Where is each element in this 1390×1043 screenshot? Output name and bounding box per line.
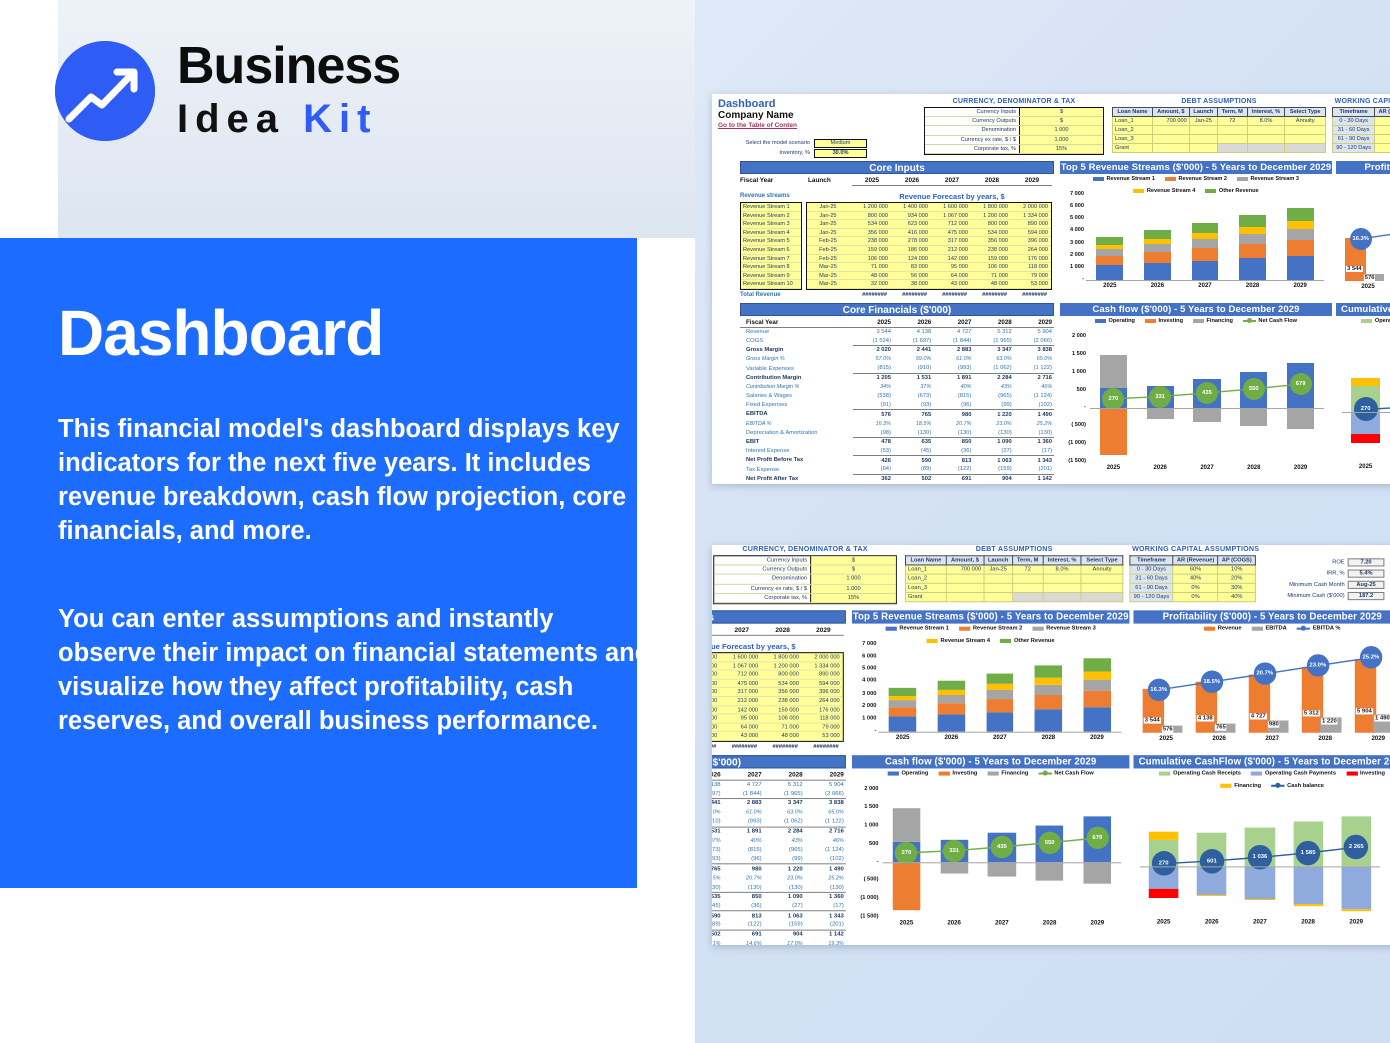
legend-label: Other Revenue [1219, 188, 1259, 194]
chart-legend: RevenueEBITDAEBITDA % [1336, 174, 1390, 182]
debt-cell[interactable] [1218, 126, 1248, 135]
debt-cell[interactable] [1043, 574, 1082, 583]
currency-row-value[interactable]: 1.000 [810, 584, 896, 592]
forecast-cell[interactable]: 1 067 000 [720, 662, 761, 670]
forecast-cell[interactable]: 317 000 [720, 688, 761, 696]
revenue-stream-name[interactable]: Revenue Stream 4 [741, 229, 801, 238]
forecast-cell[interactable]: 264 000 [802, 697, 843, 705]
legend-label: Revenue Stream 3 [1046, 626, 1095, 632]
legend-item: Revenue [1204, 626, 1242, 632]
debt-cell[interactable]: 8.0% [1043, 565, 1082, 574]
debt-cell[interactable] [1043, 583, 1082, 592]
forecast-cell[interactable]: 800 000 [851, 212, 891, 220]
core-financials-value: 1 490 [805, 864, 846, 873]
forecast-cell[interactable]: 176 000 [1011, 255, 1051, 263]
legend-item: Investing [1145, 318, 1183, 324]
debt-cell[interactable] [1189, 126, 1217, 135]
wc-ar-cell[interactable]: 60% [1173, 565, 1218, 574]
forecast-cell[interactable]: 1 200 000 [761, 662, 802, 670]
debt-cell[interactable] [1285, 135, 1326, 144]
forecast-cell[interactable]: 416 000 [712, 679, 720, 687]
launch-cell[interactable]: Jan-25 [807, 229, 851, 237]
revenue-stream-name[interactable]: Revenue Stream 7 [741, 255, 801, 264]
y-axis-tick: 1 000 [1062, 264, 1084, 270]
debt-cell[interactable]: Jan-25 [984, 565, 1013, 574]
forecast-cell[interactable]: 396 000 [802, 688, 843, 696]
forecast-cell[interactable]: 278 000 [891, 237, 931, 245]
revenue-data-label: 4 727 [1250, 713, 1267, 719]
kpi-value: 187.2 [1348, 592, 1385, 600]
forecast-cell[interactable]: 1 600 000 [720, 653, 761, 661]
debt-cell[interactable] [984, 583, 1013, 592]
forecast-cell[interactable]: 38 000 [712, 732, 720, 740]
axis-zero-line [1090, 408, 1324, 409]
core-financials-value: 1 220 [973, 410, 1013, 419]
debt-cell[interactable]: Loan_3 [1113, 135, 1153, 144]
wc-ap-cell[interactable]: 40% [1218, 592, 1255, 601]
launch-cell[interactable]: Mar-25 [807, 272, 851, 280]
revenue-forecast-grid[interactable]: Jan-251 200 0001 400 0001 600 0001 800 0… [712, 652, 844, 742]
y-axis-tick: 5 000 [1062, 215, 1084, 221]
debt-cell[interactable] [1152, 144, 1189, 153]
currency-row: Corporate tax, %15% [714, 594, 896, 603]
launch-cell[interactable]: Feb-25 [807, 246, 851, 254]
core-financials-value: 3 838 [1014, 346, 1054, 355]
y-axis-tick: - [1376, 862, 1390, 868]
forecast-cell[interactable]: 238 000 [761, 697, 802, 705]
wc-timeframe: 61 - 90 Days [1333, 135, 1375, 144]
core-financials-value: (36) [933, 447, 973, 456]
forecast-cell[interactable]: 264 000 [1011, 246, 1051, 254]
debt-cell[interactable] [1152, 135, 1189, 144]
debt-cell[interactable] [1081, 592, 1122, 601]
debt-cell[interactable] [1247, 135, 1285, 144]
forecast-cell[interactable]: 534 000 [851, 220, 891, 228]
chart-profitability[interactable]: Profitability ($'000) - 5 Years to Decem… [1133, 610, 1390, 748]
currency-row-label: Corporate tax, % [714, 594, 810, 602]
forecast-cell[interactable]: 64 000 [720, 723, 761, 731]
debt-cell[interactable]: Loan_2 [1113, 126, 1153, 135]
forecast-cell[interactable]: 83 000 [891, 263, 931, 271]
core-financials-table[interactable]: Fiscal Year20252026202720282029Revenue3 … [740, 318, 1054, 484]
legend-label: Operating [901, 770, 928, 776]
revenue-forecast-row: Jan-25800 000934 0001 067 0001 200 0001 … [712, 662, 843, 671]
debt-cell[interactable] [1218, 135, 1248, 144]
chart-cash-flow[interactable]: Cash flow ($'000) - 5 Years to December … [1060, 303, 1332, 478]
debt-cell[interactable]: Loan_3 [906, 583, 947, 592]
forecast-cell[interactable]: 238 000 [971, 246, 1011, 254]
x-axis-label: 2029 [1073, 735, 1122, 741]
x-axis-label: 2025 [1140, 736, 1193, 742]
forecast-cell[interactable]: 48 000 [971, 280, 1011, 288]
currency-row-value[interactable]: $ [1019, 108, 1103, 116]
core-financials-value: 2 441 [712, 799, 723, 808]
cash-balance-bubble: 601 [1200, 849, 1224, 873]
debt-cell[interactable] [1013, 574, 1043, 583]
forecast-cell[interactable]: 2 000 000 [1011, 203, 1051, 211]
debt-cell[interactable]: Loan_2 [906, 574, 947, 583]
legend-label: EBITDA % [1313, 626, 1341, 632]
working-capital-table[interactable]: TimeframeAR (Revenue)AP (COGS)0 - 30 Day… [1129, 555, 1255, 602]
core-financials-value: (910) [712, 817, 723, 826]
core-financials-value: (673) [712, 845, 723, 854]
revenue-stream-name[interactable]: Revenue Stream 5 [741, 237, 801, 246]
debt-cell[interactable] [1247, 144, 1285, 153]
revenue-stream-name[interactable]: Revenue Stream 9 [741, 272, 801, 281]
legend-label: Revenue Stream 3 [1251, 176, 1300, 182]
debt-cell[interactable]: 700 000 [1152, 117, 1189, 126]
currency-table[interactable]: Currency Inputs$Currency Outputs$Denomin… [924, 107, 1104, 155]
debt-cell[interactable]: 72 [1013, 565, 1043, 574]
currency-table[interactable]: Currency Inputs$Currency Outputs$Denomin… [713, 555, 897, 604]
debt-cell[interactable] [1189, 144, 1217, 153]
debt-cell[interactable] [1285, 144, 1326, 153]
core-financials-value: (99) [973, 401, 1013, 410]
debt-cell[interactable]: Grant [1113, 144, 1153, 153]
y-axis-tick: - [854, 728, 876, 734]
legend-item: Other Revenue [1000, 638, 1054, 644]
forecast-cell[interactable]: 71 000 [971, 272, 1011, 280]
forecast-cell[interactable]: 106 000 [971, 263, 1011, 271]
forecast-cell[interactable]: 118 000 [1011, 263, 1051, 271]
forecast-cell[interactable]: 1 334 000 [1011, 212, 1051, 220]
debt-cell[interactable] [1285, 126, 1326, 135]
scenario-select[interactable]: Medium [814, 139, 867, 148]
forecast-cell[interactable]: 64 000 [931, 272, 971, 280]
debt-cell[interactable]: Annuity [1285, 117, 1326, 126]
legend-item: Revenue Stream 2 [1165, 176, 1227, 182]
debt-cell[interactable] [1013, 592, 1043, 601]
core-financials-value: (27) [973, 447, 1013, 456]
forecast-cell[interactable]: 594 000 [1011, 229, 1051, 237]
debt-cell[interactable]: 700 000 [946, 565, 984, 574]
forecast-cell[interactable]: 534 000 [971, 229, 1011, 237]
legend-swatch [1271, 785, 1284, 787]
forecast-cell[interactable]: 475 000 [931, 229, 971, 237]
forecast-cell[interactable]: 118 000 [802, 715, 843, 723]
wc-ar-cell[interactable]: 0% [1375, 144, 1390, 153]
forecast-cell[interactable]: 356 000 [761, 688, 802, 696]
core-financials-value: (993) [723, 817, 764, 826]
forecast-cell[interactable]: 159 000 [851, 246, 891, 254]
debt-cell[interactable] [1043, 592, 1082, 601]
revenue-stream-name[interactable]: Revenue Stream 3 [741, 220, 801, 229]
stacked-bar-segment [1035, 695, 1062, 710]
launch-cell[interactable]: Jan-25 [807, 220, 851, 228]
stacked-bar-segment [1192, 233, 1219, 239]
debt-cell[interactable] [1218, 144, 1248, 153]
wc-ar-cell[interactable]: 0% [1173, 583, 1218, 592]
debt-cell[interactable] [984, 592, 1013, 601]
year-header: 2029 [805, 770, 846, 779]
core-financials-row: Net Profit Before Tax4265908131 0631 343 [712, 911, 846, 920]
forecast-cell[interactable]: 800 000 [971, 220, 1011, 228]
revenue-forecast-row: Mar-2532 00038 00043 00048 00053 000 [807, 280, 1051, 289]
forecast-cell[interactable]: 534 000 [761, 679, 802, 687]
launch-cell[interactable]: Jan-25 [807, 212, 851, 220]
x-axis-label: 2027 [1236, 919, 1284, 925]
forecast-cell[interactable]: 95 000 [931, 263, 971, 271]
debt-cell[interactable]: Jan-25 [1189, 117, 1217, 126]
x-axis-label: 2026 [1188, 919, 1236, 925]
chart-cash-flow[interactable]: Cash flow ($'000) - 5 Years to December … [852, 755, 1129, 934]
revenue-stream-name[interactable]: Revenue Stream 10 [741, 280, 801, 289]
legend-label: Revenue [1218, 626, 1242, 632]
forecast-cell[interactable]: 800 000 [761, 671, 802, 679]
forecast-cell[interactable]: 53 000 [802, 732, 843, 740]
chart-profitability[interactable]: Profitability ($'000) - 5 Years to Decem… [1336, 161, 1390, 296]
dashboard-screenshot-top[interactable]: DashboardCompany NameGo to the Table of … [712, 94, 1390, 484]
forecast-cell[interactable]: 48 000 [761, 732, 802, 740]
forecast-cell[interactable]: 356 000 [851, 229, 891, 237]
launch-cell[interactable]: Jan-25 [807, 203, 851, 211]
forecast-cell[interactable]: 186 000 [712, 697, 720, 705]
forecast-cell[interactable]: 186 000 [891, 246, 931, 254]
wc-ap-cell[interactable]: 20% [1218, 574, 1255, 583]
debt-cell[interactable]: 8.0% [1247, 117, 1285, 126]
cumulative-bar-segment [1293, 866, 1323, 904]
forecast-cell[interactable]: 106 000 [851, 255, 891, 263]
currency-row-value[interactable]: 15% [1019, 145, 1103, 153]
debt-cell[interactable] [1247, 126, 1285, 135]
revenue-stream-name[interactable]: Revenue Stream 8 [741, 263, 801, 272]
net-cash-flow-bubble: 331 [1149, 386, 1171, 408]
core-financials-value: 4 138 [712, 780, 723, 789]
wc-ar-cell[interactable]: 0% [1375, 135, 1390, 144]
forecast-cell[interactable]: 56 000 [891, 272, 931, 280]
core-financials-value: (130) [1014, 428, 1054, 437]
legend-label: Financing [1234, 783, 1261, 789]
forecast-cell[interactable]: 1 400 000 [891, 203, 931, 211]
debt-cell[interactable] [946, 583, 984, 592]
forecast-cell[interactable]: 1 200 000 [971, 212, 1011, 220]
forecast-cell[interactable]: 142 000 [720, 706, 761, 714]
forecast-cell[interactable]: 356 000 [971, 237, 1011, 245]
x-axis-label: 2028 [1284, 919, 1332, 925]
forecast-cell[interactable]: 2 000 000 [802, 653, 843, 661]
currency-row-value[interactable]: 1 000 [810, 575, 896, 583]
forecast-cell[interactable]: 83 000 [712, 715, 720, 723]
core-financials-table[interactable]: Fiscal Year20252026202720282029Revenue3 … [712, 770, 846, 945]
forecast-cell[interactable]: 1 400 000 [712, 653, 720, 661]
wc-ap-cell[interactable]: 30% [1218, 583, 1255, 592]
forecast-cell[interactable]: 934 000 [891, 212, 931, 220]
launch-cell[interactable]: Feb-25 [807, 237, 851, 245]
chart-title: Profitability ($'000) - 5 Years to Decem… [1336, 161, 1390, 174]
wc-ar-cell[interactable]: 0% [1173, 592, 1218, 601]
x-axis-label: 2029 [1352, 736, 1390, 742]
legend-swatch [1000, 639, 1011, 643]
revenue-stream-name[interactable]: Revenue Stream 6 [741, 246, 801, 255]
currency-row-value[interactable]: 1 000 [1019, 126, 1103, 134]
debt-cell[interactable] [946, 592, 984, 601]
debt-cell[interactable] [984, 574, 1013, 583]
debt-cell[interactable]: Loan_1 [1113, 117, 1153, 126]
forecast-cell[interactable]: 475 000 [720, 679, 761, 687]
forecast-cell[interactable]: 623 000 [891, 220, 931, 228]
forecast-cell[interactable]: 56 000 [712, 723, 720, 731]
chart-cumulative-cashflow[interactable]: Cumulative CashFlow ($'000) - 5 Years to… [1133, 755, 1390, 934]
currency-row-value[interactable]: $ [810, 566, 896, 574]
kpi-label: ROE [1264, 559, 1345, 565]
forecast-cell[interactable]: 712 000 [720, 671, 761, 679]
wc-col-header: AR (Revenue) [1375, 108, 1390, 117]
forecast-cell[interactable]: 159 000 [971, 255, 1011, 263]
legend-swatch [1093, 177, 1104, 181]
core-financials-value: (815) [933, 392, 973, 401]
forecast-cell[interactable]: 38 000 [891, 280, 931, 288]
wc-ar-cell[interactable]: 60% [1375, 117, 1390, 126]
forecast-cell[interactable]: 890 000 [802, 671, 843, 679]
core-financials-value: 5 312 [973, 327, 1013, 336]
launch-column-label: Launch [808, 177, 831, 184]
debt-assumptions-table[interactable]: Loan NameAmount, $LaunchTerm, MInterest,… [905, 555, 1123, 602]
forecast-cell[interactable]: 212 000 [931, 246, 971, 254]
forecast-cell[interactable]: 95 000 [720, 715, 761, 723]
forecast-cell[interactable]: 890 000 [1011, 220, 1051, 228]
forecast-cell[interactable]: 1 800 000 [971, 203, 1011, 211]
stacked-bar-segment [889, 700, 916, 707]
x-axis-label: 2027 [1184, 465, 1231, 471]
forecast-cell[interactable]: 53 000 [1011, 280, 1051, 288]
legend-label: EBITDA [1265, 626, 1286, 632]
forecast-cell[interactable]: 176 000 [802, 706, 843, 714]
forecast-cell[interactable]: 1 334 000 [802, 662, 843, 670]
forecast-cell[interactable]: 1 200 000 [851, 203, 891, 211]
revenue-forecast-row: Mar-2532 00038 00043 00048 00053 000 [712, 732, 843, 741]
stacked-bar-segment [1083, 659, 1110, 672]
debt-col-header: Term, M [1013, 556, 1043, 565]
core-financials-value: 61.0% [723, 808, 764, 817]
wc-ar-cell[interactable]: 40% [1375, 126, 1390, 135]
debt-cell[interactable] [1152, 126, 1189, 135]
debt-cell[interactable]: Annuity [1081, 565, 1122, 574]
wc-timeframe: 0 - 30 Days [1333, 117, 1375, 126]
x-axis-label: 2028 [1299, 736, 1352, 742]
debt-cell[interactable] [1013, 583, 1043, 592]
currency-row-value[interactable]: $ [1019, 117, 1103, 125]
y-axis-tick: 3 000 [1062, 240, 1084, 246]
launch-cell[interactable]: Mar-25 [807, 280, 851, 288]
core-financials-value: 1 891 [933, 373, 973, 382]
debt-cell[interactable] [946, 574, 984, 583]
debt-cell[interactable]: 72 [1218, 117, 1248, 126]
forecast-cell[interactable]: 142 000 [931, 255, 971, 263]
x-axis-label: 2026 [1134, 283, 1182, 289]
inventory-input[interactable]: 30.0% [814, 149, 867, 158]
forecast-cell[interactable]: 159 000 [761, 706, 802, 714]
forecast-cell[interactable]: 1 600 000 [931, 203, 971, 211]
wc-ap-cell[interactable]: 10% [1218, 565, 1255, 574]
forecast-cell[interactable]: 71 000 [851, 263, 891, 271]
debt-cell[interactable] [1189, 135, 1217, 144]
stacked-bar-segment [1096, 256, 1123, 266]
debt-cell[interactable]: Loan_1 [906, 565, 947, 574]
core-financials-label: Variable Expenses [740, 364, 853, 373]
forecast-cell[interactable]: 43 000 [720, 732, 761, 740]
table-of-contents-link[interactable]: Go to the Table of Conten [718, 122, 797, 129]
chart-top5-revenue-streams[interactable]: Top 5 Revenue Streams ($'000) - 5 Years … [852, 610, 1129, 748]
stacked-bar-segment [938, 680, 965, 689]
launch-cell[interactable]: Mar-25 [807, 263, 851, 271]
currency-row: Currency ex rate, $ / $1.000 [714, 584, 896, 593]
currency-row-label: Denomination [714, 575, 810, 583]
forecast-cell[interactable]: 594 000 [802, 679, 843, 687]
forecast-cell[interactable]: 79 000 [1011, 272, 1051, 280]
forecast-cell[interactable]: 934 000 [712, 662, 720, 670]
forecast-cell[interactable]: 278 000 [712, 688, 720, 696]
forecast-cell[interactable]: 1 067 000 [931, 212, 971, 220]
dashboard-screenshot-bottom[interactable]: DashboardCompany NameGo to the Table of … [712, 545, 1390, 945]
debt-cell[interactable] [1081, 583, 1122, 592]
core-financials-value: (98) [853, 428, 893, 437]
forecast-cell[interactable]: 712 000 [931, 220, 971, 228]
forecast-cell[interactable]: 124 000 [712, 706, 720, 714]
forecast-cell[interactable]: 317 000 [931, 237, 971, 245]
ebitda-data-label: 765 [1215, 724, 1227, 730]
chart-cumulative-cashflow[interactable]: Cumulative CashFlow ($'000) - 5 Years to… [1336, 303, 1390, 478]
wc-ar-cell[interactable]: 40% [1173, 574, 1218, 583]
revenue-forecast-grid[interactable]: Jan-251 200 0001 400 0001 600 0001 800 0… [806, 202, 1052, 290]
currency-row-value[interactable]: $ [810, 556, 896, 564]
core-financials-value: 59.0% [712, 808, 723, 817]
core-financials-label: Net Profit After Tax [740, 474, 853, 483]
debt-col-header: Interest, % [1043, 556, 1082, 565]
forecast-cell[interactable]: 238 000 [851, 237, 891, 245]
currency-row: Corporate tax, %15% [925, 145, 1103, 154]
working-capital-table[interactable]: TimeframeAR (Revenue)AP (COGS)0 - 30 Day… [1332, 107, 1390, 153]
forecast-cell[interactable]: 416 000 [891, 229, 931, 237]
debt-cell[interactable] [1081, 574, 1122, 583]
forecast-cell[interactable]: 71 000 [761, 723, 802, 731]
forecast-cell[interactable]: 106 000 [761, 715, 802, 723]
legend-label: Net Cash Flow [1054, 770, 1093, 776]
currency-row-value[interactable]: 1.000 [1019, 136, 1103, 144]
revenue-stream-name[interactable]: Revenue Stream 1 [741, 203, 801, 212]
forecast-cell[interactable]: 124 000 [891, 255, 931, 263]
core-financials-value: (1 122) [1014, 364, 1054, 373]
launch-cell[interactable]: Feb-25 [807, 255, 851, 263]
forecast-cell[interactable]: 623 000 [712, 671, 720, 679]
scenario-label: Select the model scenario [732, 140, 810, 146]
chart-top5-revenue-streams[interactable]: Top 5 Revenue Streams ($'000) - 5 Years … [1060, 161, 1332, 296]
forecast-cell[interactable]: 1 800 000 [761, 653, 802, 661]
forecast-cell[interactable]: 43 000 [931, 280, 971, 288]
core-financials-value: 2 883 [723, 799, 764, 808]
debt-assumptions-table[interactable]: Loan NameAmount, $LaunchTerm, MInterest,… [1112, 107, 1326, 153]
net-cash-flow-bubble: 679 [1086, 827, 1108, 849]
stacked-bar-segment [1035, 678, 1062, 685]
forecast-cell[interactable]: 32 000 [851, 280, 891, 288]
forecast-cell[interactable]: 48 000 [851, 272, 891, 280]
revenue-forecast-row: Jan-25800 000934 0001 067 0001 200 0001 … [807, 212, 1051, 221]
net-cash-flow-bubble: 435 [1196, 382, 1218, 404]
currency-row-value[interactable]: 15% [810, 594, 896, 602]
legend-swatch [1297, 628, 1310, 630]
net-cash-flow-bubble: 550 [1243, 378, 1265, 400]
stacked-bar-segment [1035, 709, 1062, 731]
forecast-cell[interactable]: 396 000 [1011, 237, 1051, 245]
forecast-cell[interactable]: 212 000 [720, 697, 761, 705]
revenue-stream-names[interactable]: Revenue Stream 1Revenue Stream 2Revenue … [740, 202, 802, 290]
total-revenue-value: ######## [760, 744, 801, 750]
core-financials-value: (201) [1014, 465, 1054, 474]
revenue-stream-name[interactable]: Revenue Stream 2 [741, 212, 801, 221]
debt-cell[interactable]: Grant [906, 592, 947, 601]
core-financials-value: 904 [764, 930, 805, 939]
core-financials-value: 1 205 [853, 373, 893, 382]
forecast-cell[interactable]: 79 000 [802, 723, 843, 731]
